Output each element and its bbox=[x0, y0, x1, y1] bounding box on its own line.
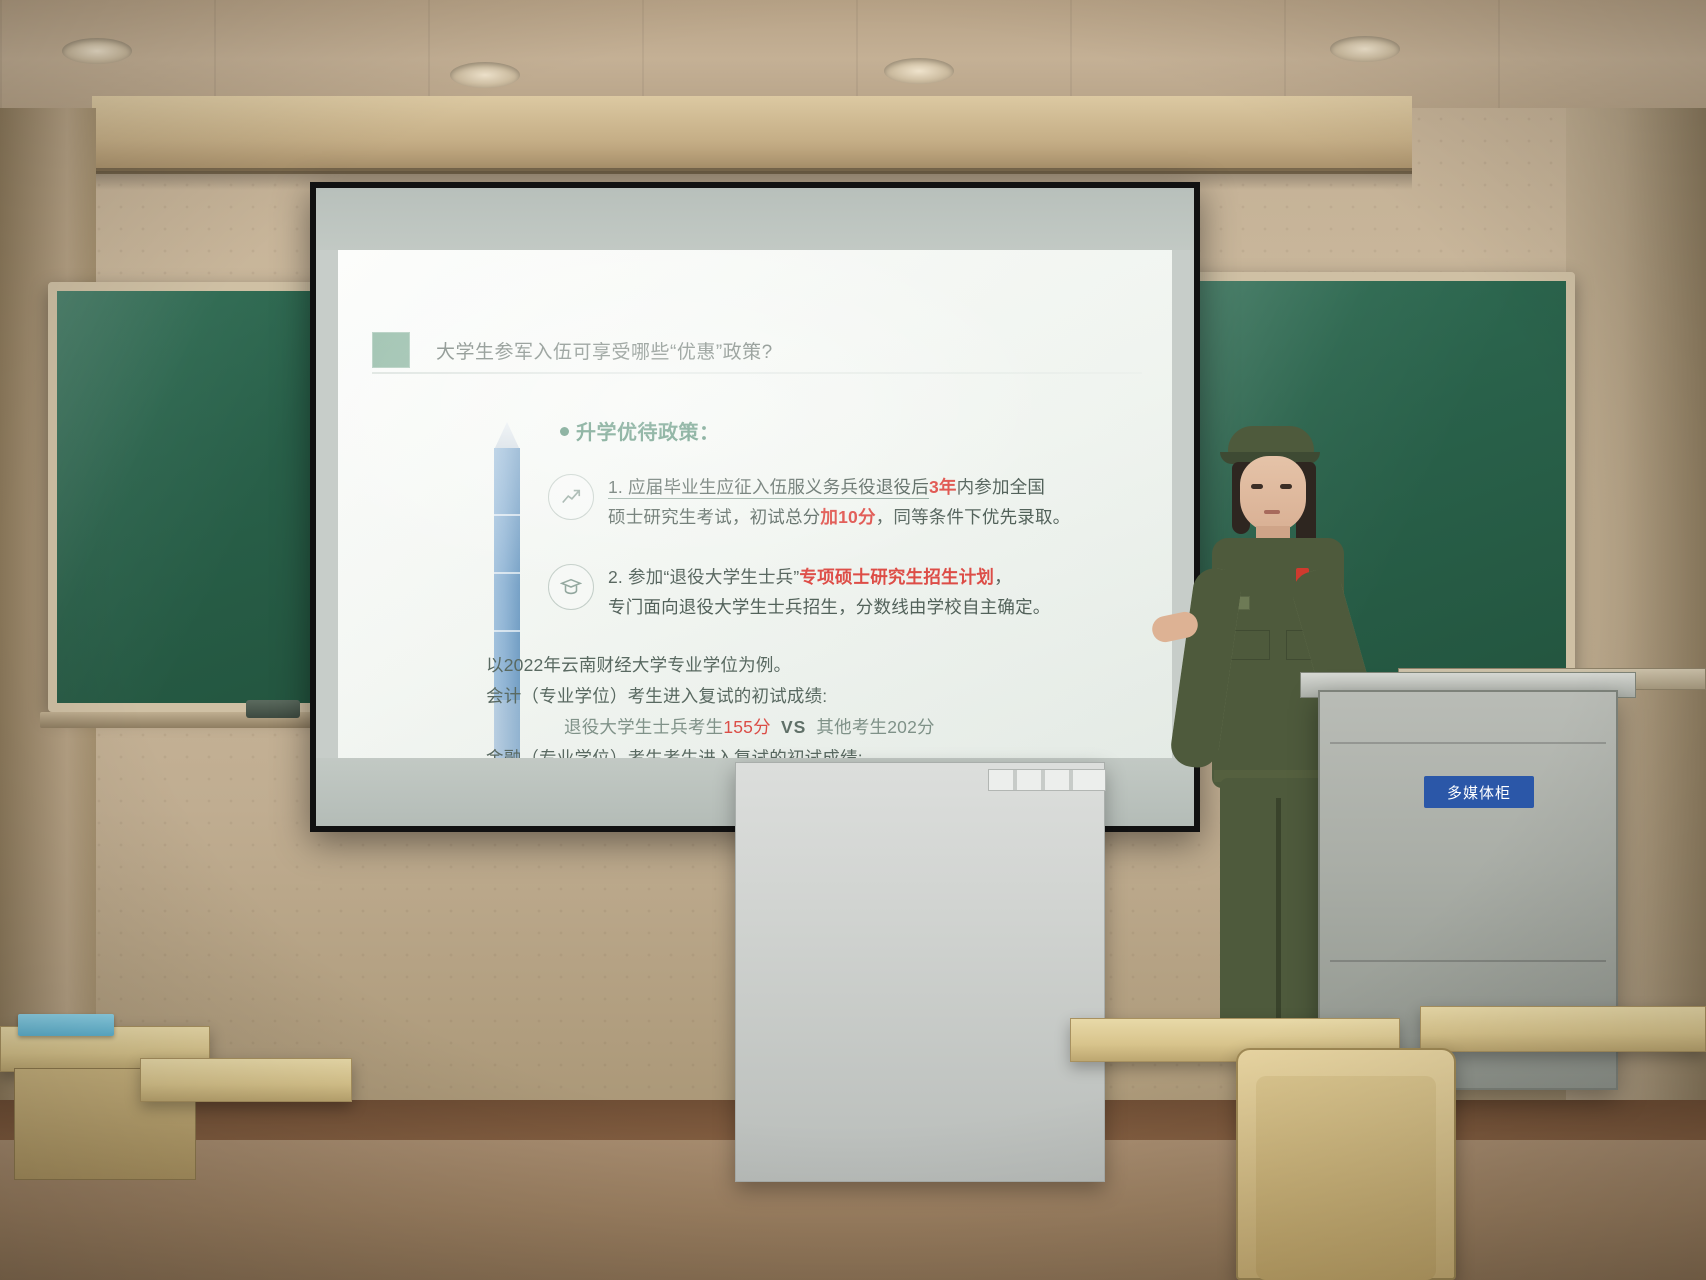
policy-1-line2-pre: 硕士研究生考试，初试总分 bbox=[608, 507, 820, 527]
policy-2-line2-pre: 专门面向退役大学生士兵招生，分数线由学校自主确定。 bbox=[608, 597, 1051, 617]
policy-item-1-text: 1. 应届毕业生应征入伍服义务兵役退役后3年内参加全国 硕士研究生考试，初试总分… bbox=[608, 472, 1070, 532]
policy-2-line1-post: ， bbox=[994, 567, 1012, 587]
control-switches[interactable] bbox=[988, 769, 1106, 791]
pencil-segment bbox=[494, 630, 520, 632]
policy-item-1: 1. 应届毕业生应征入伍服义务兵役退役后3年内参加全国 硕士研究生考试，初试总分… bbox=[548, 472, 1070, 532]
policy-item-2-text: 2. 参加“退役大学生士兵”专项硕士研究生招生计划， 专门面向退役大学生士兵招生… bbox=[608, 562, 1051, 622]
policy-1-line2-post: ，同等条件下优先录取。 bbox=[876, 507, 1071, 527]
leg-separation bbox=[1276, 798, 1281, 1046]
ceiling-tile-grid bbox=[0, 0, 1706, 108]
pencil-segment bbox=[494, 514, 520, 516]
case1-other-score: 202分 bbox=[887, 717, 935, 737]
policy-1-line1-highlight: 3年 bbox=[929, 477, 957, 497]
chair-seat bbox=[1256, 1076, 1436, 1280]
section-heading-label: 升学优待政策： bbox=[576, 422, 720, 444]
uniform-pocket-left bbox=[1230, 630, 1270, 660]
policy-item-2: 2. 参加“退役大学生士兵”专项硕士研究生招生计划， 专门面向退役大学生士兵招生… bbox=[548, 562, 1051, 622]
cabinet-seam bbox=[1330, 742, 1606, 744]
title-divider bbox=[372, 372, 1142, 374]
ceiling-light bbox=[62, 38, 132, 64]
ceiling-light bbox=[1330, 36, 1400, 62]
ceiling-light bbox=[884, 58, 954, 84]
example-case1-label: 会计（专业学位）考生进入复试的初试成绩: bbox=[486, 681, 1106, 712]
presentation-slide: 大学生参军入伍可享受哪些“优惠”政策? 升学优待政策： bbox=[338, 250, 1172, 758]
student-desk bbox=[140, 1058, 352, 1102]
projection-surface: 大学生参军入伍可享受哪些“优惠”政策? 升学优待政策： bbox=[316, 188, 1194, 826]
projection-screen: 大学生参军入伍可享受哪些“优惠”政策? 升学优待政策： bbox=[310, 182, 1200, 832]
pencil-segment bbox=[494, 572, 520, 574]
section-heading: 升学优待政策： bbox=[560, 416, 720, 445]
board-eraser bbox=[246, 700, 300, 718]
slide-title: 大学生参军入伍可享受哪些“优惠”政策? bbox=[436, 337, 773, 364]
policy-1-line2-highlight: 加10分 bbox=[820, 507, 875, 527]
cabinet-seam bbox=[1330, 960, 1606, 962]
ceiling-soffit-beam bbox=[92, 96, 1412, 174]
front-desk bbox=[735, 762, 1105, 1182]
face bbox=[1240, 456, 1306, 532]
screen-top-band bbox=[316, 188, 1194, 250]
classroom-scene: 大学生参军入伍可享受哪些“优惠”政策? 升学优待政策： bbox=[0, 0, 1706, 1280]
example-case1-scores: 退役大学生士兵考生155分 VS 其他考生202分 bbox=[486, 712, 1106, 743]
case1-vs-label: VS bbox=[781, 717, 806, 737]
ceiling-light bbox=[450, 62, 520, 88]
pencil-tip bbox=[494, 422, 520, 450]
notebook bbox=[18, 1014, 114, 1036]
bullet-dot-icon bbox=[560, 427, 569, 436]
cabinet-label: 多媒体柜 bbox=[1424, 776, 1534, 808]
case1-other-label: 其他考生 bbox=[816, 717, 887, 737]
title-accent-chip bbox=[372, 332, 410, 368]
eye-left bbox=[1251, 484, 1263, 489]
eye-right bbox=[1280, 484, 1292, 489]
student-desk bbox=[1420, 1006, 1706, 1052]
case1-veteran-label: 退役大学生士兵考生 bbox=[564, 717, 723, 737]
policy-2-line1-pre: 2. 参加“退役大学生士兵” bbox=[608, 567, 799, 587]
case1-veteran-score: 155分 bbox=[723, 717, 771, 737]
example-case2-label: 金融（专业学位）考生考生进入复试的初试成绩: bbox=[486, 743, 1106, 758]
chart-growth-icon bbox=[548, 474, 594, 520]
mouth bbox=[1264, 510, 1280, 514]
graduation-cap-icon bbox=[548, 564, 594, 610]
example-block: 以2022年云南财经大学专业学位为例。 会计（专业学位）考生进入复试的初试成绩:… bbox=[486, 650, 1106, 758]
policy-1-line1-pre: 1. 应届毕业生应征入伍服义务兵役退役后 bbox=[608, 477, 929, 499]
slide-title-row: 大学生参军入伍可享受哪些“优惠”政策? bbox=[372, 332, 773, 368]
example-intro: 以2022年云南财经大学专业学位为例。 bbox=[486, 650, 1106, 681]
policy-1-line1-post: 内参加全国 bbox=[957, 477, 1046, 497]
policy-2-line1-highlight: 专项硕士研究生招生计划 bbox=[799, 567, 994, 587]
